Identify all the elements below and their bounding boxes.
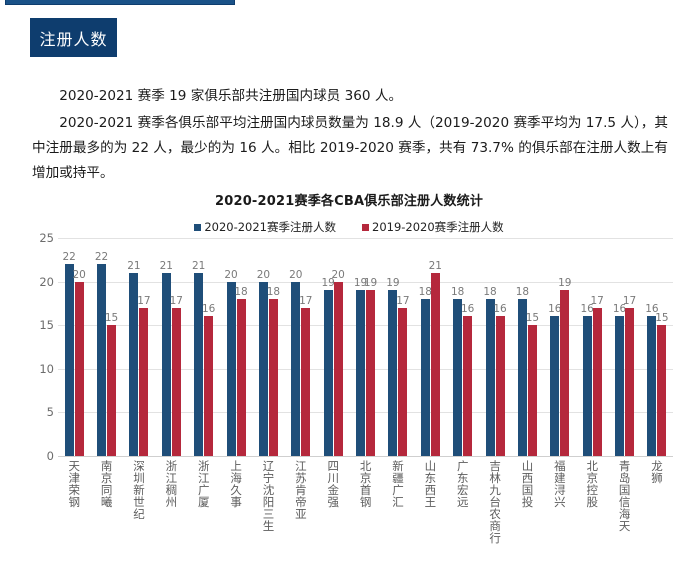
bar-group[interactable]: 2117 [123, 238, 155, 456]
bar-series-2019-2020[interactable]: 18 [237, 299, 246, 456]
bar-value-label: 20 [224, 269, 237, 281]
bar-group[interactable]: 1919 [349, 238, 381, 456]
x-axis-label: 青岛国信海天 [608, 460, 640, 564]
x-axis-label-text: 天津荣钢 [68, 460, 80, 564]
bar-value-label: 21 [429, 260, 442, 272]
x-axis-label: 浙江广厦 [188, 460, 220, 564]
bar-value-label: 19 [386, 277, 399, 289]
bar-value-label: 17 [591, 295, 604, 307]
legend-swatch-icon-red [362, 224, 369, 231]
x-axis-label-text: 山西国投 [521, 460, 533, 564]
x-axis-label-text: 江苏肯帝亚 [295, 460, 307, 564]
bar-series-2020-2021[interactable]: 19 [388, 290, 397, 456]
paragraph-1: 2020-2021 赛季 19 家俱乐部共注册国内球员 360 人。 [32, 84, 668, 109]
bar-value-label: 18 [451, 286, 464, 298]
bar-series-2020-2021[interactable]: 16 [550, 316, 559, 456]
bar-series-2019-2020[interactable]: 17 [398, 308, 407, 456]
bar-series-2020-2021[interactable]: 20 [259, 282, 268, 456]
bar-series-2019-2020[interactable]: 20 [334, 282, 343, 456]
legend-label-2020-2021: 2020-2021赛季注册人数 [204, 219, 336, 235]
bar-series-2019-2020[interactable]: 19 [560, 290, 569, 456]
bar-value-label: 18 [267, 286, 280, 298]
bar-series-2019-2020[interactable]: 15 [107, 325, 116, 456]
y-axis-tick: 5 [47, 405, 54, 419]
bar-series-2020-2021[interactable]: 18 [421, 299, 430, 456]
bar-series-2020-2021[interactable]: 16 [615, 316, 624, 456]
chart-title: 2020-2021赛季各CBA俱乐部注册人数统计 [0, 186, 698, 209]
x-axis-label-text: 四川金强 [327, 460, 339, 564]
y-axis: 0510152025 [28, 238, 54, 456]
y-axis-tick: 20 [39, 275, 54, 289]
bar-series-2020-2021[interactable]: 18 [486, 299, 495, 456]
x-axis-label: 福建浔兴 [544, 460, 576, 564]
x-axis-label-text: 上海久事 [230, 460, 242, 564]
x-axis-label: 天津荣钢 [58, 460, 90, 564]
bar-series-2020-2021[interactable]: 16 [647, 316, 656, 456]
x-axis-label-text: 浙江广厦 [198, 460, 210, 564]
bar-value-label: 15 [105, 312, 118, 324]
bar-group[interactable]: 1816 [479, 238, 511, 456]
bar-value-label: 18 [516, 286, 529, 298]
bar-series-2019-2020[interactable]: 17 [139, 308, 148, 456]
x-axis-label-text: 山东西王 [424, 460, 436, 564]
bar-value-label: 21 [160, 260, 173, 272]
bar-value-label: 20 [332, 269, 345, 281]
bar-value-label: 22 [63, 251, 76, 263]
bar-value-label: 16 [461, 303, 474, 315]
bar-series-2019-2020[interactable]: 16 [496, 316, 505, 456]
x-axis-label: 新疆广汇 [382, 460, 414, 564]
x-axis-label-text: 辽宁沈阳三生 [262, 460, 274, 564]
x-axis-label: 辽宁沈阳三生 [252, 460, 284, 564]
bar-group[interactable]: 1821 [414, 238, 446, 456]
bar-value-label: 20 [289, 269, 302, 281]
registration-bar-chart: 2020-2021赛季各CBA俱乐部注册人数统计 2020-2021赛季注册人数… [0, 186, 698, 566]
bar-series-2019-2020[interactable]: 21 [431, 273, 440, 456]
x-axis-label-text: 北京首钢 [360, 460, 372, 564]
y-axis-tick: 10 [39, 362, 54, 376]
legend-swatch-icon-blue [194, 224, 201, 231]
x-axis-label: 山西国投 [511, 460, 543, 564]
bar-series-2019-2020[interactable]: 16 [463, 316, 472, 456]
section-badge: 注册人数 [30, 18, 117, 57]
bar-series-2020-2021[interactable]: 21 [194, 273, 203, 456]
bar-value-label: 15 [526, 312, 539, 324]
bar-group[interactable]: 2018 [220, 238, 252, 456]
x-axis-label: 山东西王 [414, 460, 446, 564]
bar-group[interactable]: 2117 [155, 238, 187, 456]
bar-series-2019-2020[interactable]: 15 [528, 325, 537, 456]
legend-item-2019-2020: 2019-2020赛季注册人数 [362, 219, 504, 235]
x-axis-label: 北京首钢 [349, 460, 381, 564]
bar-series-2019-2020[interactable]: 17 [625, 308, 634, 456]
y-axis-tick: 15 [39, 318, 54, 332]
y-axis-tick: 0 [47, 449, 54, 463]
bar-series-2020-2021[interactable]: 19 [324, 290, 333, 456]
bar-group[interactable]: 1816 [447, 238, 479, 456]
x-axis-label-text: 浙江稠州 [165, 460, 177, 564]
legend-label-2019-2020: 2019-2020赛季注册人数 [372, 219, 504, 235]
bar-series-2020-2021[interactable]: 16 [583, 316, 592, 456]
bar-group[interactable]: 1920 [317, 238, 349, 456]
x-axis-label: 四川金强 [317, 460, 349, 564]
x-axis-label-text: 广东宏远 [457, 460, 469, 564]
bar-group[interactable]: 2116 [188, 238, 220, 456]
bar-group[interactable]: 2215 [90, 238, 122, 456]
bar-value-label: 17 [137, 295, 150, 307]
chart-legend: 2020-2021赛季注册人数 2019-2020赛季注册人数 [0, 219, 698, 235]
bar-value-label: 16 [493, 303, 506, 315]
bar-group[interactable]: 1917 [382, 238, 414, 456]
bar-series-2019-2020[interactable]: 19 [366, 290, 375, 456]
bar-value-label: 17 [623, 295, 636, 307]
x-axis-label: 吉林九台农商行 [479, 460, 511, 564]
bar-group[interactable]: 1619 [544, 238, 576, 456]
bar-series-2020-2021[interactable]: 22 [97, 264, 106, 456]
bar-value-label: 17 [396, 295, 409, 307]
bar-value-label: 18 [483, 286, 496, 298]
bar-group[interactable]: 2017 [285, 238, 317, 456]
article-body: 2020-2021 赛季 19 家俱乐部共注册国内球员 360 人。 2020-… [32, 84, 668, 188]
bar-value-label: 20 [257, 269, 270, 281]
bar-value-label: 17 [299, 295, 312, 307]
bar-series-2020-2021[interactable]: 22 [65, 264, 74, 456]
bar-value-label: 17 [170, 295, 183, 307]
bar-value-label: 19 [364, 277, 377, 289]
x-axis-label-text: 南京同曦 [101, 460, 113, 564]
bar-series-2019-2020[interactable]: 16 [204, 316, 213, 456]
gridline [58, 456, 673, 457]
bar-series-container: 2220221521172117211620182018201719201919… [58, 238, 673, 456]
bar-value-label: 19 [558, 277, 571, 289]
top-decorative-bar [5, 0, 235, 5]
x-axis-label-text: 福建浔兴 [554, 460, 566, 564]
bar-value-label: 18 [234, 286, 247, 298]
x-axis-label: 深圳新世纪 [123, 460, 155, 564]
bar-value-label: 20 [73, 269, 86, 281]
legend-item-2020-2021: 2020-2021赛季注册人数 [194, 219, 336, 235]
y-axis-tick: 25 [39, 231, 54, 245]
x-axis-labels: 天津荣钢南京同曦深圳新世纪浙江稠州浙江广厦上海久事辽宁沈阳三生江苏肯帝亚四川金强… [58, 460, 673, 564]
bar-series-2020-2021[interactable]: 20 [291, 282, 300, 456]
bar-series-2019-2020[interactable]: 17 [301, 308, 310, 456]
x-axis-label: 广东宏远 [447, 460, 479, 564]
bar-series-2019-2020[interactable]: 18 [269, 299, 278, 456]
x-axis-label: 上海久事 [220, 460, 252, 564]
bar-series-2019-2020[interactable]: 15 [657, 325, 666, 456]
bar-group[interactable]: 2220 [58, 238, 90, 456]
x-axis-label-text: 青岛国信海天 [619, 460, 631, 564]
bar-group[interactable]: 2018 [252, 238, 284, 456]
bar-series-2019-2020[interactable]: 20 [75, 282, 84, 456]
bar-value-label: 21 [192, 260, 205, 272]
x-axis-label-text: 新疆广汇 [392, 460, 404, 564]
x-axis-label-text: 吉林九台农商行 [489, 460, 501, 564]
bar-value-label: 22 [95, 251, 108, 263]
bar-series-2019-2020[interactable]: 17 [593, 308, 602, 456]
bar-value-label: 15 [655, 312, 668, 324]
bar-group[interactable]: 1615 [641, 238, 673, 456]
bar-series-2019-2020[interactable]: 17 [172, 308, 181, 456]
x-axis-label: 浙江稠州 [155, 460, 187, 564]
x-axis-label-text: 深圳新世纪 [133, 460, 145, 564]
plot-area: 0510152025 22202215211721172116201820182… [0, 238, 698, 566]
bar-value-label: 16 [202, 303, 215, 315]
bar-series-2020-2021[interactable]: 20 [227, 282, 236, 456]
x-axis-label: 龙狮 [641, 460, 673, 564]
bar-group[interactable]: 1815 [511, 238, 543, 456]
x-axis-label-text: 龙狮 [651, 460, 663, 564]
bar-series-2020-2021[interactable]: 19 [356, 290, 365, 456]
bar-group[interactable]: 1617 [608, 238, 640, 456]
x-axis-label: 北京控股 [576, 460, 608, 564]
paragraph-2: 2020-2021 赛季各俱乐部平均注册国内球员数量为 18.9 人（2019-… [32, 111, 668, 186]
x-axis-label: 南京同曦 [90, 460, 122, 564]
x-axis-label-text: 北京控股 [586, 460, 598, 564]
bar-value-label: 21 [127, 260, 140, 272]
bar-group[interactable]: 1617 [576, 238, 608, 456]
x-axis-label: 江苏肯帝亚 [285, 460, 317, 564]
bar-series-2020-2021[interactable]: 18 [453, 299, 462, 456]
